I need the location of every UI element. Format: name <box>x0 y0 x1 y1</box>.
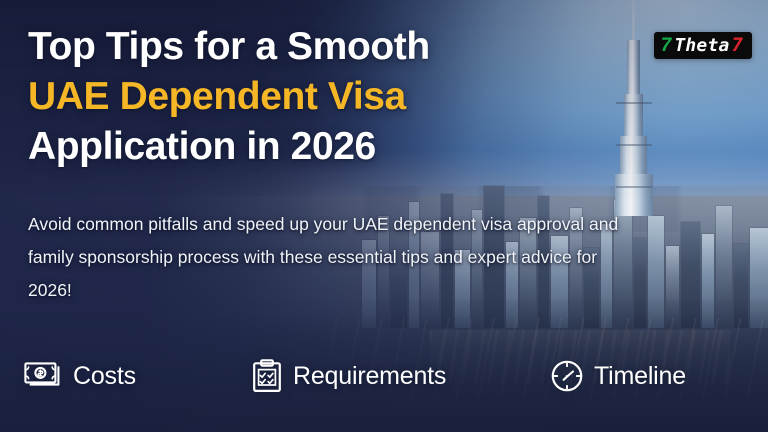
headline: Top Tips for a Smooth UAE Dependent Visa… <box>28 22 588 172</box>
banner-content: Top Tips for a Smooth UAE Dependent Visa… <box>0 0 768 432</box>
theta7-logo[interactable]: 7 Theta 7 <box>654 32 752 59</box>
headline-line-2-accent: UAE Dependent Visa <box>28 72 588 122</box>
feature-requirements[interactable]: Requirements <box>252 359 446 393</box>
clipboard-check-icon <box>252 359 282 393</box>
logo-seven-mark-icon: 7 <box>661 36 671 55</box>
feature-strip: Costs Requirements <box>0 352 768 400</box>
promo-banner: Top Tips for a Smooth UAE Dependent Visa… <box>0 0 768 432</box>
logo-seven-suffix: 7 <box>732 36 743 55</box>
headline-line-1: Top Tips for a Smooth <box>28 22 588 72</box>
feature-costs[interactable]: Costs <box>24 362 136 390</box>
headline-line-3: Application in 2026 <box>28 122 588 172</box>
logo-wordmark: Theta <box>674 37 729 55</box>
banknote-dollar-icon <box>24 362 62 390</box>
subheadline: Avoid common pitfalls and speed up your … <box>28 208 628 307</box>
feature-label-timeline: Timeline <box>594 364 686 389</box>
feature-label-requirements: Requirements <box>293 364 446 389</box>
clock-icon <box>551 360 583 392</box>
feature-timeline[interactable]: Timeline <box>551 360 686 392</box>
feature-label-costs: Costs <box>73 364 136 389</box>
